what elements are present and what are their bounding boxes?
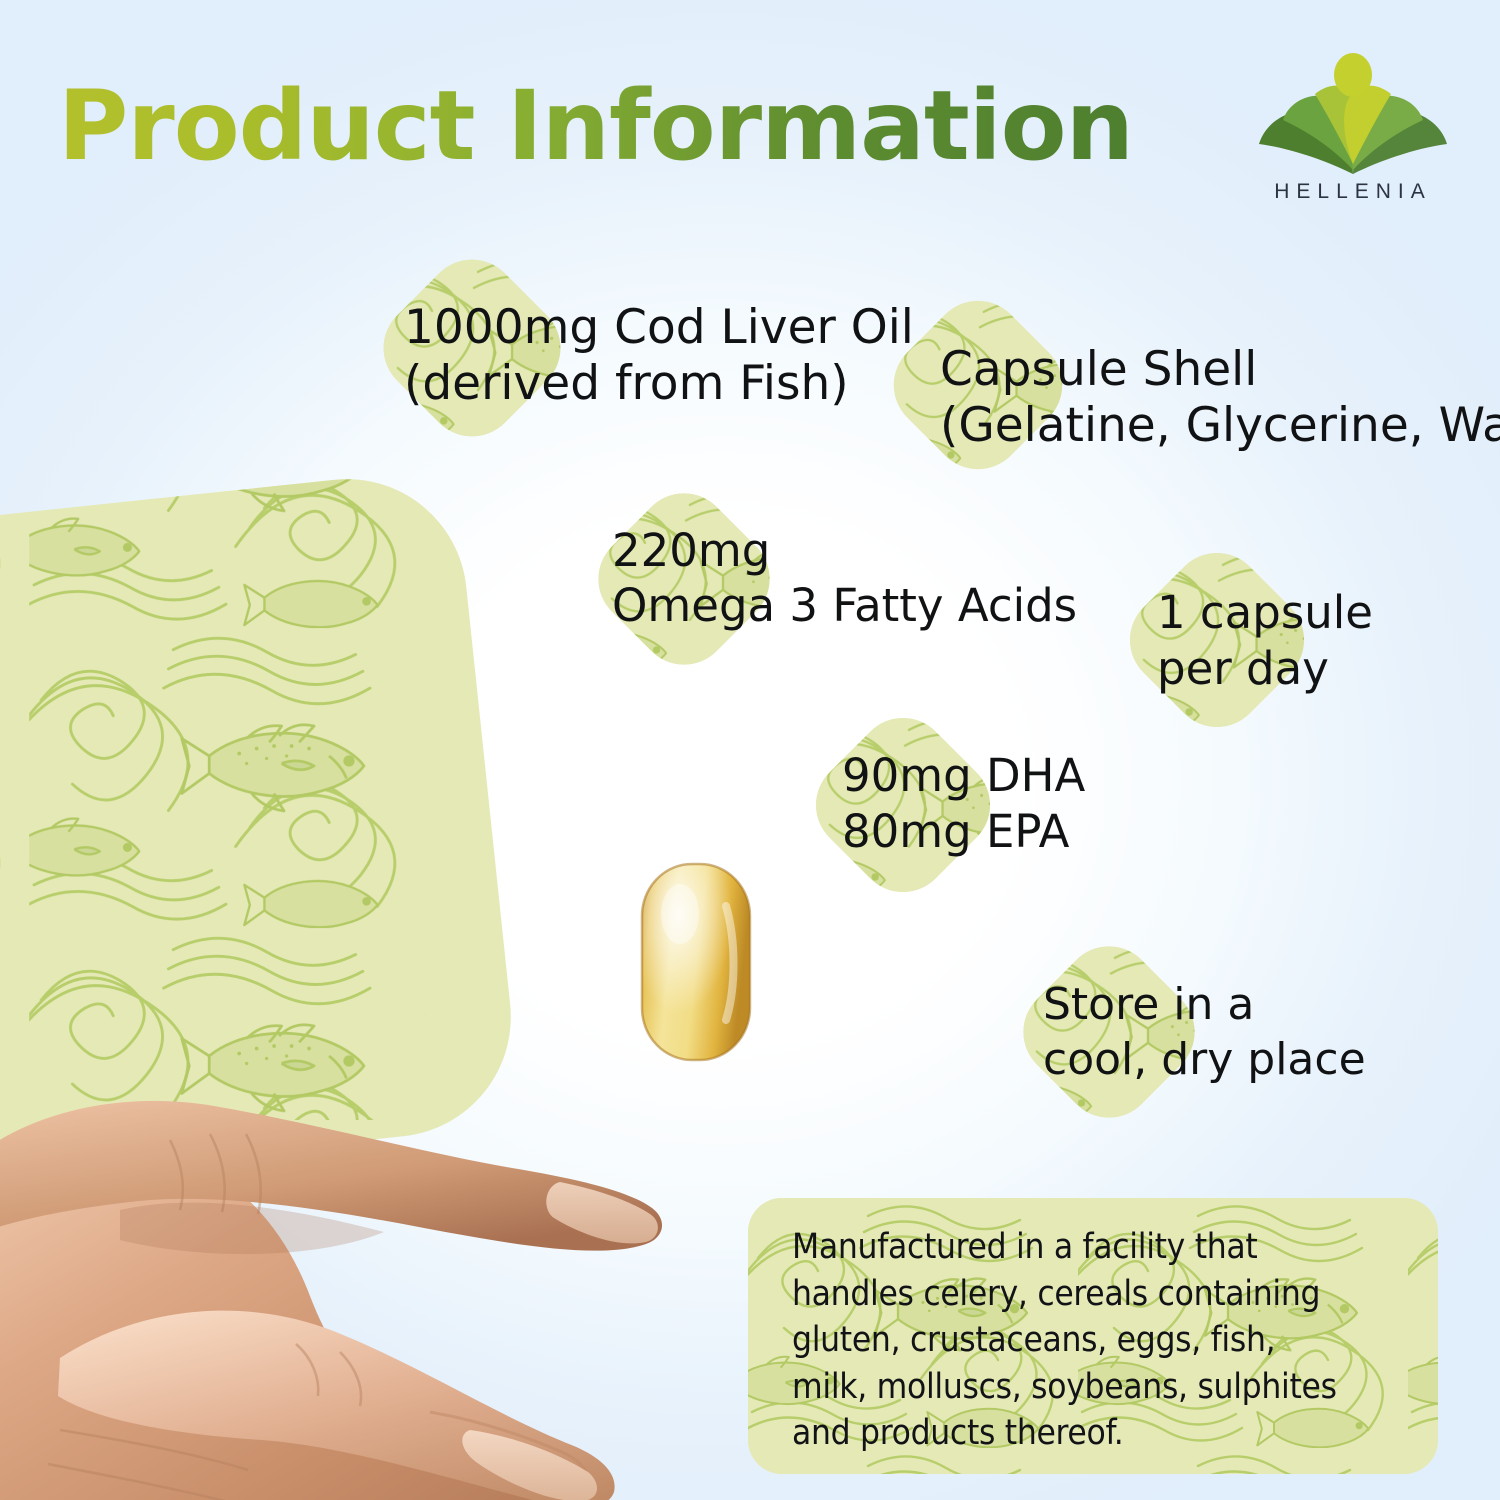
- softgel-capsule: [640, 862, 752, 1062]
- brand-logo: HELLENIA: [1253, 52, 1453, 222]
- card-label-line2: 80mg EPA: [842, 804, 1085, 860]
- card-label-line1: 1000mg Cod Liver Oil: [404, 300, 914, 356]
- brand-name: HELLENIA: [1253, 180, 1453, 204]
- disclaimer-line: milk, molluscs, soybeans, sulphites: [792, 1364, 1442, 1411]
- disclaimer-line: gluten, crustaceans, eggs, fish,: [792, 1317, 1442, 1364]
- card-label-line2: Omega 3 Fatty Acids: [612, 579, 1077, 634]
- card-label-line2: (derived from Fish): [404, 356, 914, 412]
- plant-leaves-logo-icon: [1253, 52, 1453, 182]
- card-label-line2: cool, dry place: [1043, 1033, 1366, 1088]
- card-label-line1: Capsule Shell: [940, 342, 1500, 398]
- page-title: Product Information: [58, 78, 1133, 174]
- card-label-line2: (Gelatine, Glycerine, Water): [940, 398, 1500, 454]
- disclaimer-line: and products thereof.: [792, 1410, 1442, 1457]
- card-label-line2: per day: [1157, 641, 1373, 697]
- card-label-line1: 90mg DHA: [842, 748, 1085, 804]
- card-label-line1: Store in a: [1043, 978, 1366, 1033]
- card-label-line1: 220mg: [612, 524, 1077, 579]
- card-label-line1: 1 capsule: [1157, 585, 1373, 641]
- disclaimer-line: Manufactured in a facility that: [792, 1224, 1442, 1271]
- allergen-disclaimer-text: Manufactured in a facility that handles …: [792, 1224, 1442, 1457]
- disclaimer-line: handles celery, cereals containing: [792, 1271, 1442, 1318]
- hand-holding-capsule-photo: [0, 740, 800, 1500]
- product-information-infographic: Product Information HELLENIA: [0, 0, 1500, 1500]
